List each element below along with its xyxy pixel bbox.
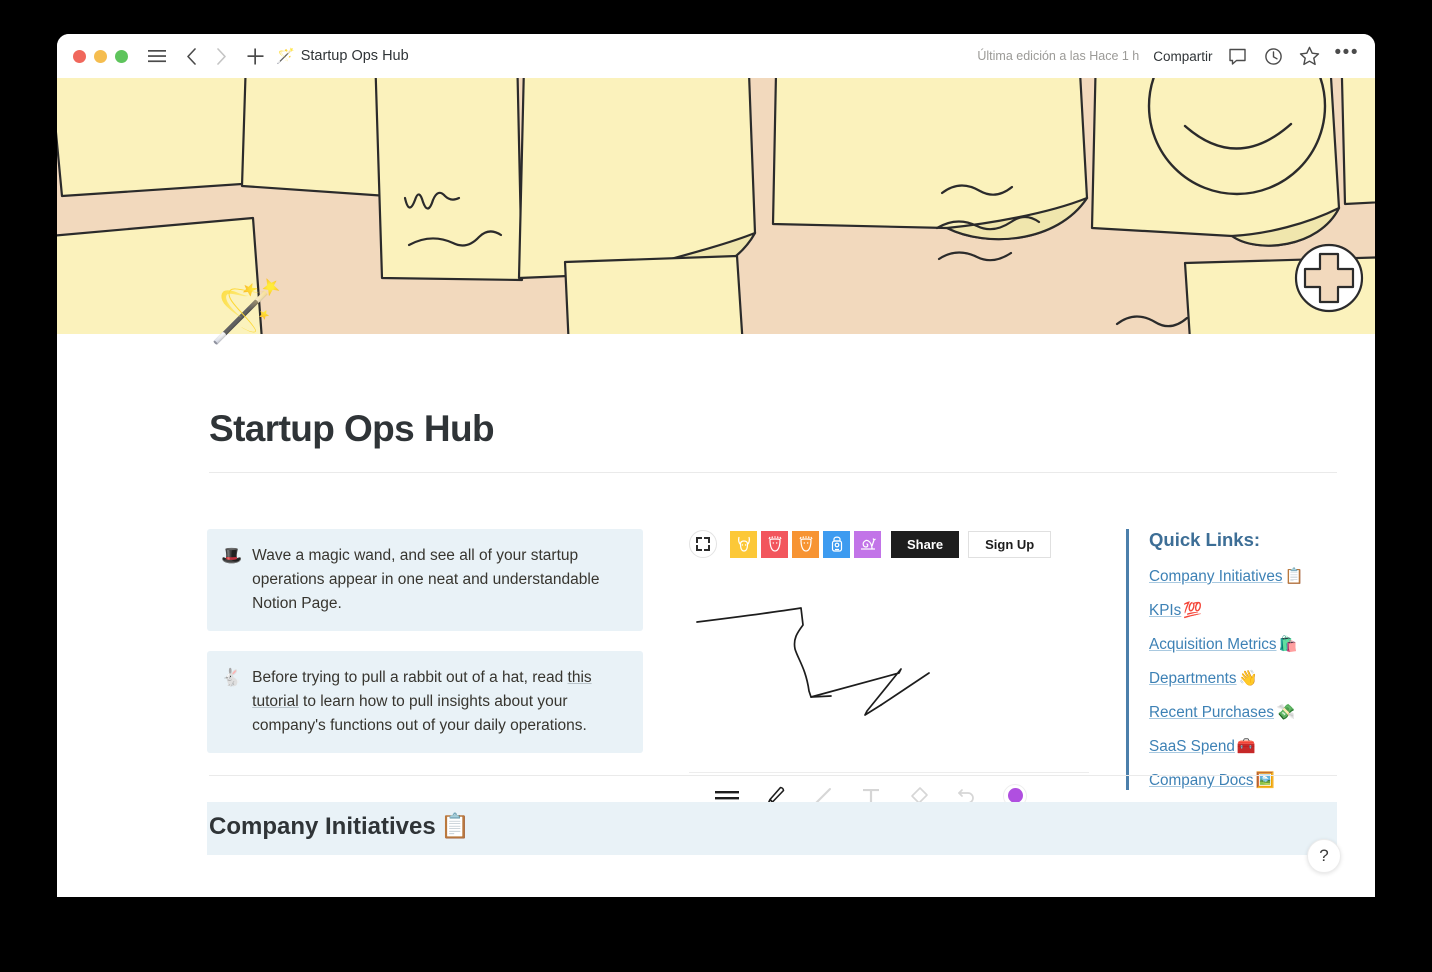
maximize-window-button[interactable] xyxy=(115,50,128,63)
quick-link-label: Recent Purchases xyxy=(1149,704,1274,721)
window-controls xyxy=(73,50,128,63)
shopping-bags-icon: 🛍️ xyxy=(1279,635,1298,654)
quick-links-title: Quick Links: xyxy=(1149,529,1375,551)
whiteboard-canvas[interactable] xyxy=(689,577,1089,772)
more-options-icon[interactable]: ••• xyxy=(1335,48,1359,65)
whiteboard-share-button[interactable]: Share xyxy=(891,531,959,558)
help-button[interactable]: ? xyxy=(1307,839,1341,873)
avatar-robot[interactable] xyxy=(823,531,850,558)
plus-icon[interactable] xyxy=(242,43,268,69)
current-color-swatch xyxy=(1008,788,1023,803)
cover-plus-badge xyxy=(1296,245,1362,311)
callout-magic-wand[interactable]: 🎩 Wave a magic wand, and see all of your… xyxy=(207,529,643,631)
quick-link-recent-purchases[interactable]: Recent Purchases💸 xyxy=(1149,703,1375,722)
money-wings-icon: 💸 xyxy=(1276,703,1295,722)
menu-icon[interactable] xyxy=(144,43,170,69)
clipboard-icon: 📋 xyxy=(1284,567,1303,586)
collaborator-avatars xyxy=(730,531,881,558)
quick-link-label: Acquisition Metrics xyxy=(1149,636,1277,653)
page-title[interactable]: Startup Ops Hub xyxy=(209,408,494,450)
callout-text: Before trying to pull a rabbit out of a … xyxy=(252,666,627,738)
quick-link-label: Departments xyxy=(1149,670,1237,687)
quick-link-acquisition-metrics[interactable]: Acquisition Metrics🛍️ xyxy=(1149,635,1375,654)
section-heading-text: Company Initiatives xyxy=(209,813,436,840)
titlebar-page-emoji: 🪄 xyxy=(276,47,295,65)
whiteboard-toolbar: Share Sign Up xyxy=(689,529,1089,559)
quick-link-label: Company Initiatives xyxy=(1149,568,1282,585)
browser-window: 🪄 Startup Ops Hub Última edición a las H… xyxy=(57,34,1375,897)
quick-link-kpis[interactable]: KPIs💯 xyxy=(1149,601,1375,620)
avatar-rabbit[interactable] xyxy=(730,531,757,558)
callout-text: Wave a magic wand, and see all of your s… xyxy=(252,544,627,616)
page-icon[interactable]: 🪄 xyxy=(209,282,284,342)
titlebar-title: Startup Ops Hub xyxy=(301,48,409,64)
top-hat-icon: 🎩 xyxy=(221,544,242,616)
quick-link-label: KPIs xyxy=(1149,602,1181,619)
rabbit-icon: 🐇 xyxy=(221,666,242,738)
section-divider xyxy=(209,775,1337,776)
hundred-points-icon: 💯 xyxy=(1183,601,1202,620)
quick-link-label: SaaS Spend xyxy=(1149,738,1235,755)
clipboard-icon: 📋 xyxy=(440,813,470,840)
section-heading-company-initiatives[interactable]: Company Initiatives 📋 xyxy=(207,802,1337,855)
callout-text-before: Before trying to pull a rabbit out of a … xyxy=(252,669,567,686)
back-icon[interactable] xyxy=(178,43,204,69)
last-edited-label: Última edición a las Hace 1 h xyxy=(977,49,1139,63)
history-icon[interactable] xyxy=(1263,45,1285,67)
waving-hand-icon: 👋 xyxy=(1239,669,1258,688)
quick-link-company-initiatives[interactable]: Company Initiatives📋 xyxy=(1149,567,1375,586)
quick-link-saas-spend[interactable]: SaaS Spend🧰 xyxy=(1149,737,1375,756)
quick-link-departments[interactable]: Departments👋 xyxy=(1149,669,1375,688)
titlebar-actions: Última edición a las Hace 1 h Compartir xyxy=(977,45,1359,67)
fullscreen-icon[interactable] xyxy=(689,530,717,558)
favorite-star-icon[interactable] xyxy=(1299,45,1321,67)
forward-icon[interactable] xyxy=(208,43,234,69)
quick-link-company-docs[interactable]: Company Docs🖼️ xyxy=(1149,771,1375,790)
avatar-snail[interactable] xyxy=(854,531,881,558)
minimize-window-button[interactable] xyxy=(94,50,107,63)
avatar-goat[interactable] xyxy=(792,531,819,558)
quick-links-block: Quick Links: Company Initiatives📋 KPIs💯 … xyxy=(1126,529,1375,790)
callout-tutorial[interactable]: 🐇 Before trying to pull a rabbit out of … xyxy=(207,651,643,753)
framed-picture-icon: 🖼️ xyxy=(1256,771,1275,790)
whiteboard-sketch xyxy=(689,577,1089,772)
share-button[interactable]: Compartir xyxy=(1153,49,1212,64)
page-body: 🪄 Startup Ops Hub 🎩 Wave a magic wand, a… xyxy=(57,334,1375,897)
avatar-cow[interactable] xyxy=(761,531,788,558)
screenshot-root: 🪄 Startup Ops Hub Última edición a las H… xyxy=(0,0,1432,972)
whiteboard-signup-button[interactable]: Sign Up xyxy=(968,531,1051,558)
callout-text-after: to learn how to pull insights about your… xyxy=(252,693,587,734)
toolbox-icon: 🧰 xyxy=(1237,737,1256,756)
close-window-button[interactable] xyxy=(73,50,86,63)
comment-icon[interactable] xyxy=(1227,45,1249,67)
title-bar: 🪄 Startup Ops Hub Última edición a las H… xyxy=(57,34,1375,78)
title-divider xyxy=(209,472,1337,473)
